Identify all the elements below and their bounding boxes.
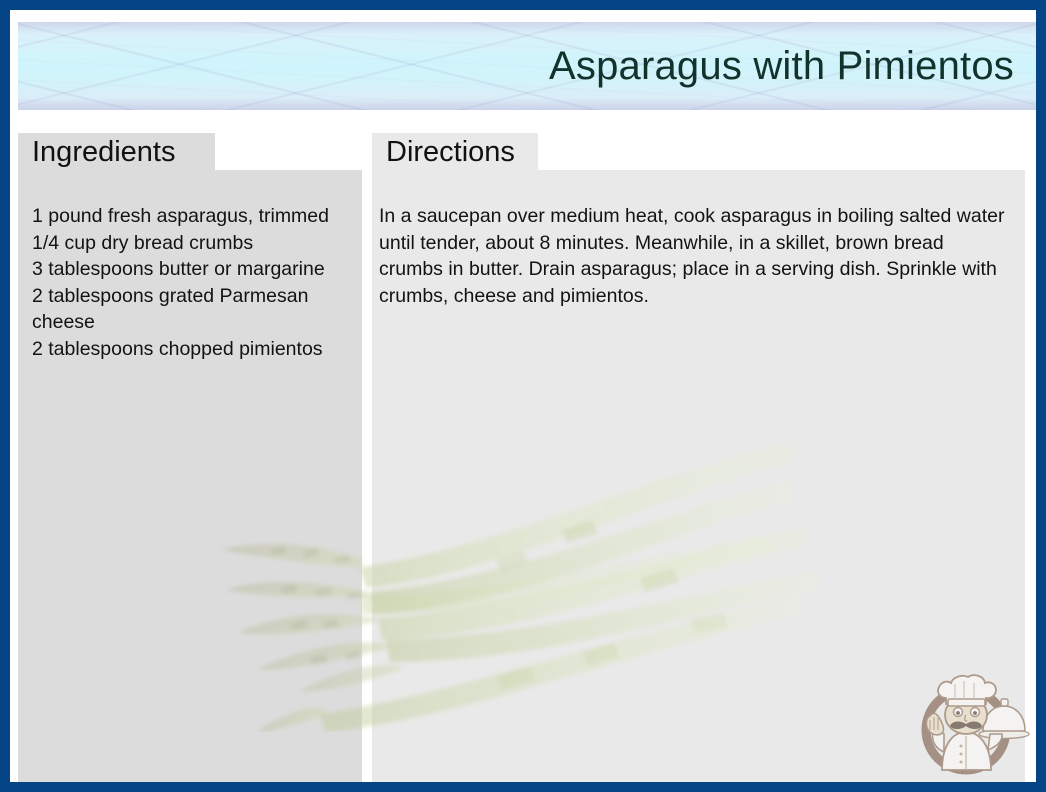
list-item: 2 tablespoons grated Parmesan cheese: [32, 283, 366, 336]
directions-body-text: In a saucepan over medium heat, cook asp…: [379, 203, 1013, 309]
ingredients-list: 1 pound fresh asparagus, trimmed 1/4 cup…: [32, 203, 366, 362]
section-heading-ingredients: Ingredients: [18, 133, 215, 172]
list-item: 1/4 cup dry bread crumbs: [32, 230, 366, 257]
list-item: 3 tablespoons butter or margarine: [32, 256, 366, 283]
section-heading-directions: Directions: [372, 133, 538, 172]
ingredients-heading-label: Ingredients: [32, 136, 176, 169]
slide-content-area: Asparagus with Pimientos: [10, 10, 1036, 782]
directions-heading-label: Directions: [386, 136, 515, 169]
title-banner: Asparagus with Pimientos: [18, 22, 1036, 110]
list-item: 1 pound fresh asparagus, trimmed: [32, 203, 366, 230]
recipe-slide: Asparagus with Pimientos: [0, 0, 1046, 792]
page-title: Asparagus with Pimientos: [549, 44, 1014, 88]
list-item: 2 tablespoons chopped pimientos: [32, 336, 366, 363]
